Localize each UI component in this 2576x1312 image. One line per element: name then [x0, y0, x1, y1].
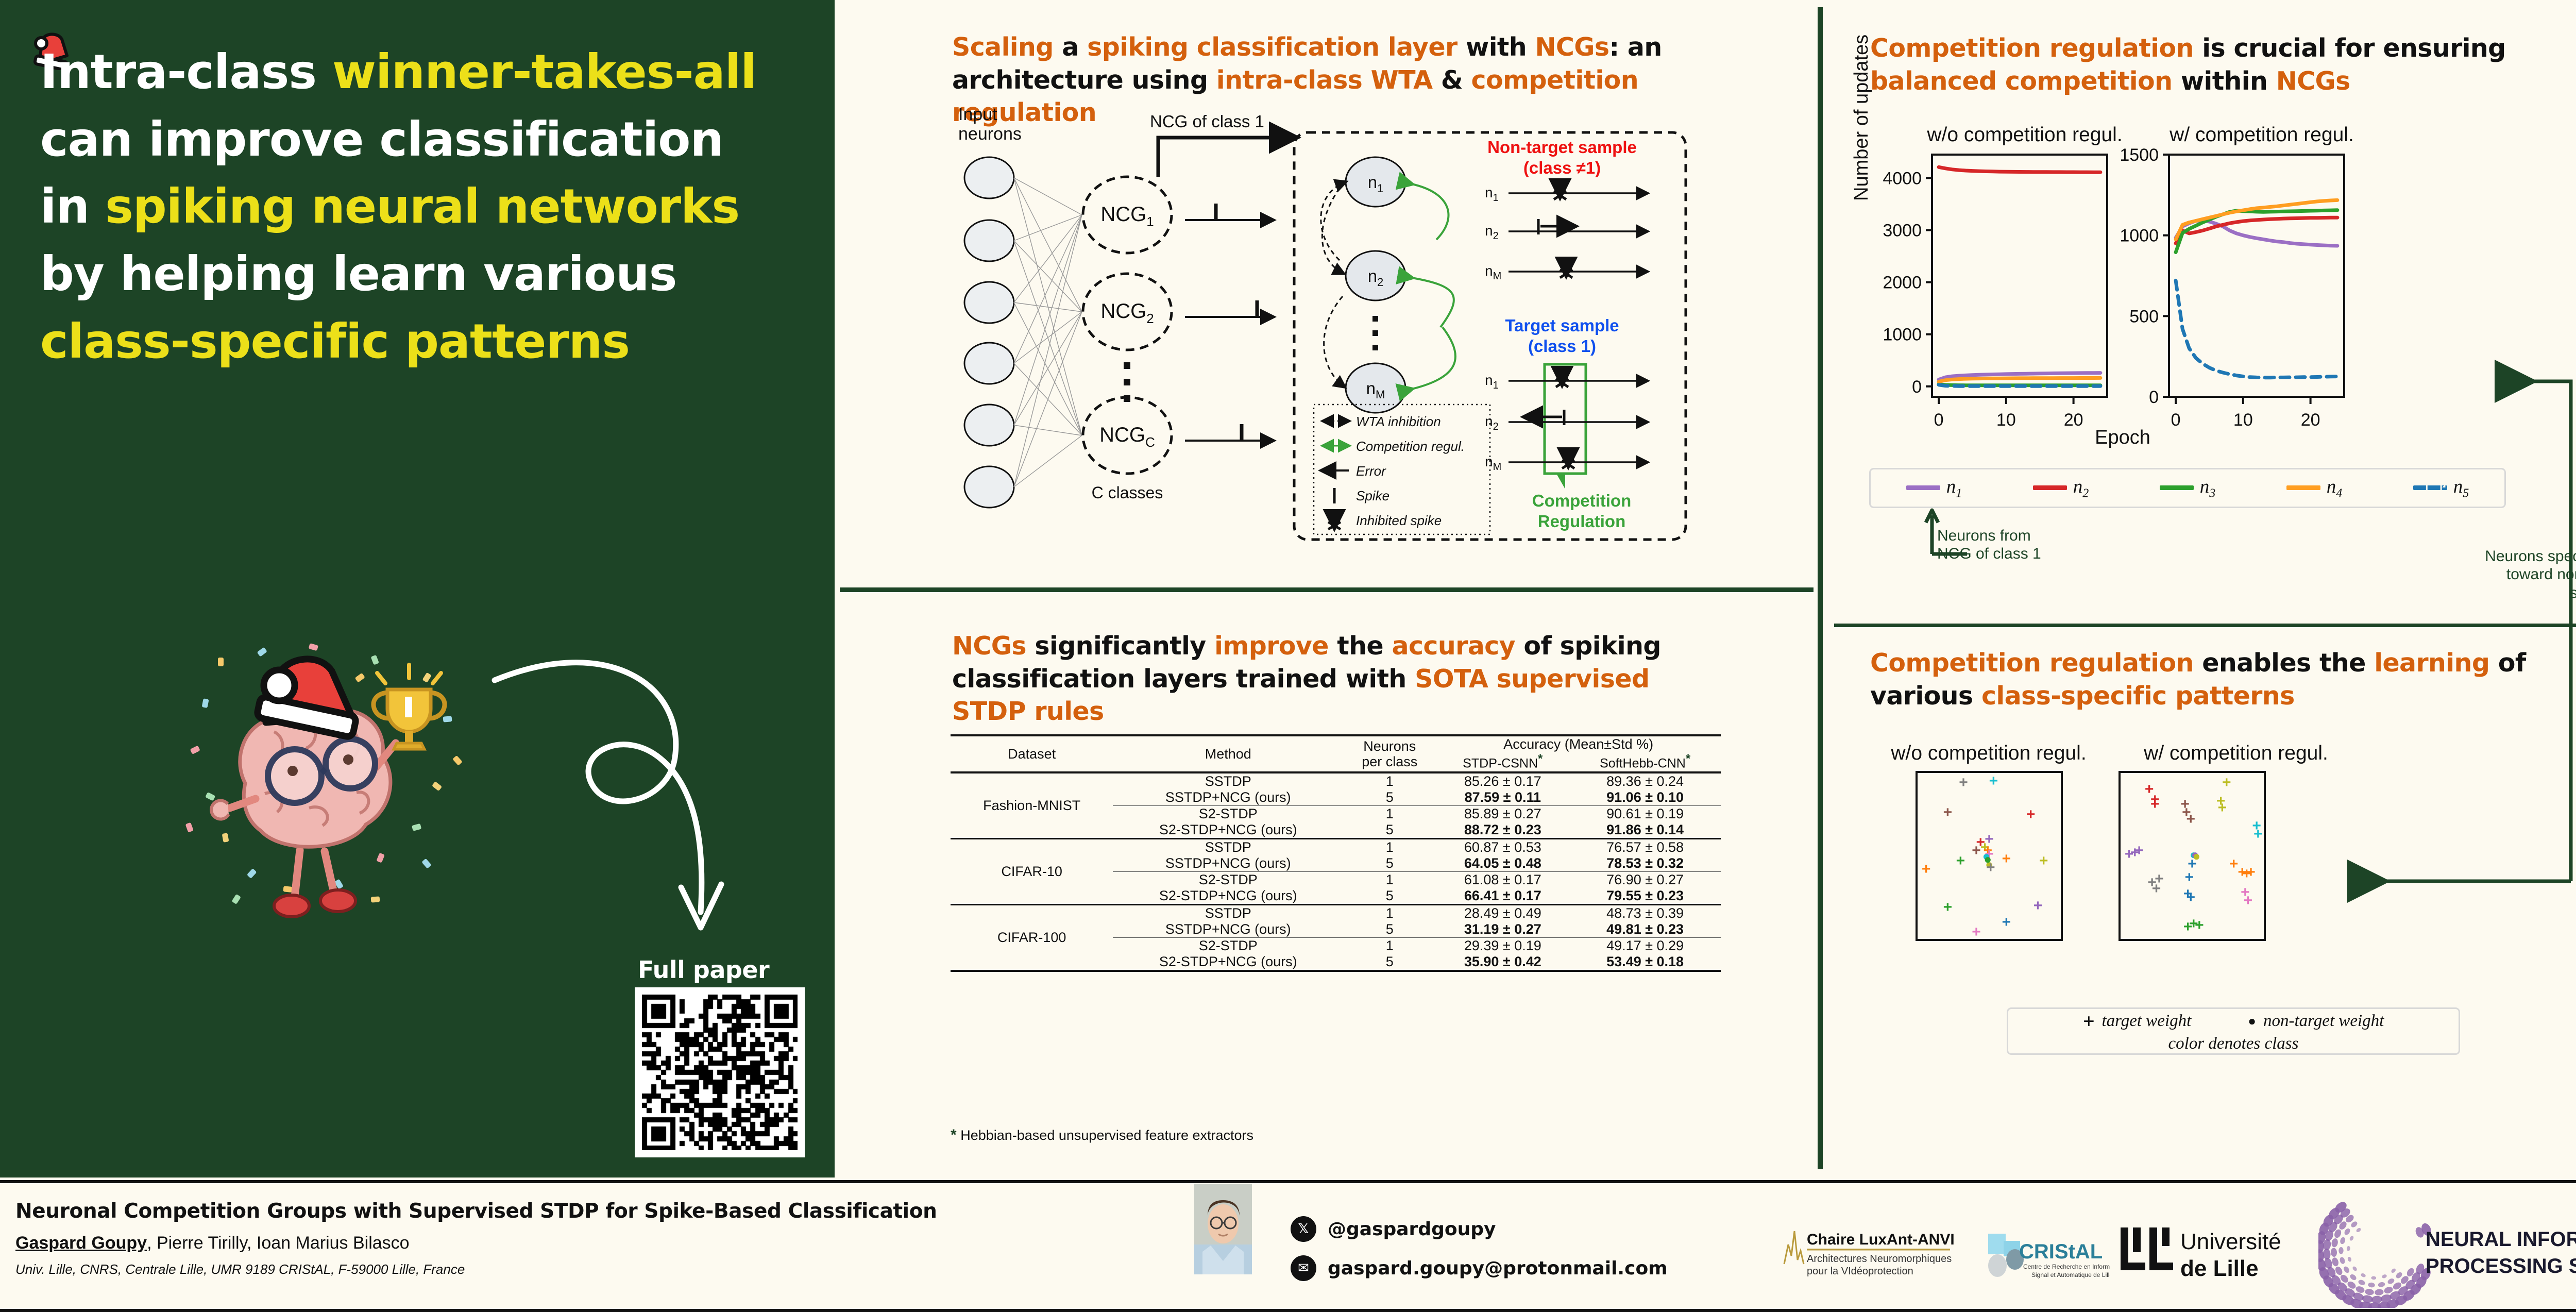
- confetti-piece: [443, 716, 452, 722]
- architecture-diagram: Input neurons NCG1 NCG2 NCGC C classes N…: [927, 106, 1690, 569]
- paper-title: Neuronal Competition Groups with Supervi…: [15, 1200, 937, 1223]
- logo-universite-de-lille: Université de Lille: [2117, 1220, 2298, 1289]
- c-classes-label: C classes: [1092, 483, 1163, 502]
- confetti-piece: [371, 896, 380, 902]
- svg-text:n1: n1: [1485, 184, 1499, 204]
- table-cell-softhebb-cnn: 53.49 ± 0.18: [1569, 954, 1721, 971]
- neurips-dot: [2355, 1285, 2366, 1294]
- logo-cristal: CRIStAL Centre de Recherche en Informati…: [1986, 1222, 2110, 1285]
- table-cell-method: S2-STDP: [1113, 871, 1343, 888]
- nontarget-sample-label-1: Non-target sample: [1487, 138, 1637, 157]
- chaire-sub1: Architectures Neuromorphiques: [1807, 1253, 1952, 1265]
- target-weight-marker: +: [1959, 775, 1968, 790]
- table-cell-neurons: 1: [1343, 904, 1436, 921]
- confetti-piece: [412, 823, 421, 831]
- udl-line1: Université: [2180, 1229, 2281, 1254]
- neurips-dot: [2331, 1248, 2337, 1257]
- neurips-dot: [2331, 1257, 2340, 1267]
- table-cell-softhebb-cnn: 76.90 ± 0.27: [1569, 871, 1721, 888]
- confetti-piece: [185, 822, 194, 833]
- synapse-lines: [1014, 178, 1082, 487]
- y-tick: 0: [1912, 377, 1922, 397]
- table-cell-neurons: 5: [1343, 855, 1436, 872]
- headline-line: can improve classification: [40, 106, 813, 174]
- neurips-dot: [2349, 1273, 2357, 1282]
- headline-line: Intra-class winner-takes-all: [40, 39, 813, 106]
- chaire-sub2: pour la VIdéoprotection: [1807, 1266, 1913, 1277]
- legend-swatch: [1906, 485, 1940, 490]
- neurips-dot: [2338, 1247, 2343, 1254]
- table-cell-method: SSTDP+NCG (ours): [1113, 789, 1343, 806]
- competition-regulation-label-2: Regulation: [1538, 512, 1626, 531]
- table-cell-softhebb-cnn: 76.57 ± 0.58: [1569, 838, 1721, 855]
- target-weight-marker: +: [2134, 843, 2144, 859]
- accuracy-table-container: Dataset Method Neurons per class Accurac…: [951, 734, 1721, 972]
- vertical-divider: [1818, 7, 1823, 1169]
- table-cell-method: SSTDP+NCG (ours): [1113, 921, 1343, 938]
- left-hero-panel: Intra-class winner-takes-allcan improve …: [0, 0, 835, 1178]
- scatter-right-title: w/ competition regul.: [2128, 742, 2344, 765]
- legend-item-n5: n5: [2413, 476, 2469, 500]
- table-cell-softhebb-cnn: 48.73 ± 0.39: [1569, 904, 1721, 921]
- confetti-piece: [205, 792, 215, 801]
- table-row: CIFAR-10SSTDP160.87 ± 0.5376.57 ± 0.58: [951, 838, 1721, 855]
- table-cell-stdp-csnn: 85.89 ± 0.27: [1436, 805, 1569, 822]
- y-tick: 500: [2129, 307, 2159, 326]
- confetti-piece: [202, 698, 209, 708]
- udl-line2: de Lille: [2180, 1256, 2259, 1281]
- table-section-title: NCGs significantly improve the accuracy …: [952, 630, 1715, 728]
- confetti-piece: [218, 658, 224, 666]
- table-cell-stdp-csnn: 61.08 ± 0.17: [1436, 871, 1569, 888]
- confetti-piece: [421, 859, 431, 869]
- target-weight-marker: +: [1943, 805, 1953, 820]
- nontarget-sample-label-2: (class ≠1): [1523, 158, 1601, 177]
- table-cell-stdp-csnn: 28.49 ± 0.49: [1436, 904, 1569, 921]
- annotation-specializing: Neurons specializing toward non-target s…: [2478, 547, 2576, 602]
- table-cell-neurons: 1: [1343, 772, 1436, 789]
- legend-swatch: [2033, 485, 2067, 490]
- table-cell-stdp-csnn: 60.87 ± 0.53: [1436, 838, 1569, 855]
- curved-arrow-icon: [479, 618, 768, 969]
- neurips-dot: [2368, 1282, 2376, 1288]
- table-cell-method: S2-STDP+NCG (ours): [1113, 822, 1343, 839]
- table-cell-softhebb-cnn: 49.81 ± 0.23: [1569, 921, 1721, 938]
- neurips-dot: [2378, 1282, 2385, 1288]
- updates-charts: Number of updates w/o competition regul.…: [1855, 124, 2576, 453]
- th-accuracy: Accuracy (Mean±Std %): [1436, 735, 1721, 752]
- confetti-piece: [371, 655, 379, 665]
- neurips-dot: [2387, 1277, 2395, 1285]
- target-weight-marker: +: [1922, 862, 1931, 877]
- table-row: CIFAR-100SSTDP128.49 ± 0.4948.73 ± 0.39: [951, 904, 1721, 921]
- chart-frame-1: [2169, 155, 2344, 397]
- scatter-legend: + target weight ● non-target weight colo…: [2007, 1007, 2460, 1055]
- neurips-dot: [2334, 1266, 2344, 1276]
- confetti-piece: [222, 833, 229, 843]
- table-cell-method: S2-STDP+NCG (ours): [1113, 954, 1343, 971]
- table-cell-neurons: 5: [1343, 822, 1436, 839]
- th-stdp-csnn: STDP-CSNN*: [1436, 752, 1569, 771]
- neurips-line2: PROCESSING SYSTEMS: [2426, 1255, 2576, 1277]
- confetti-piece: [422, 672, 432, 683]
- th-softhebb-cnn: SoftHebb-CNN*: [1569, 752, 1721, 771]
- neurips-line1: NEURAL INFORMATION: [2426, 1228, 2576, 1251]
- neurips-dot: [2365, 1288, 2375, 1296]
- competition-regulation-label-1: Competition: [1532, 491, 1631, 510]
- legend-wta-inhibition: WTA inhibition: [1356, 414, 1441, 429]
- table-cell-stdp-csnn: 88.72 ± 0.23: [1436, 822, 1569, 839]
- input-neuron-circles: [964, 157, 1014, 508]
- legend-nontarget-weight: ● non-target weight: [2248, 1012, 2384, 1031]
- target-weight-marker: +: [2155, 871, 2164, 887]
- th-method: Method: [1113, 735, 1343, 771]
- confetti-piece: [247, 868, 257, 879]
- table-cell-method: SSTDP: [1113, 904, 1343, 921]
- legend-label: n5: [2453, 476, 2469, 500]
- table-cell-stdp-csnn: 35.90 ± 0.42: [1436, 954, 1569, 971]
- table-cell-method: S2-STDP: [1113, 805, 1343, 822]
- table-cell-method: S2-STDP: [1113, 937, 1343, 954]
- horizontal-divider-middle: [840, 587, 1814, 592]
- chart-legend: n1n2n3n4n5: [1869, 468, 2506, 508]
- qr-code-canvas: [642, 995, 798, 1150]
- target-weight-marker: +: [2002, 915, 2011, 930]
- chart-xlabel: Epoch: [1855, 427, 2391, 449]
- table-cell-stdp-csnn: 66.41 ± 0.17: [1436, 888, 1569, 905]
- neurips-dot: [2350, 1220, 2358, 1229]
- scatter-left-title: w/o competition regul.: [1880, 742, 2097, 765]
- target-weight-marker: +: [2246, 865, 2256, 880]
- y-tick: 1500: [2120, 145, 2159, 165]
- confetti-piece: [355, 673, 365, 683]
- svg-text:n2: n2: [1485, 413, 1499, 432]
- target-weight-marker: +: [2253, 827, 2263, 842]
- horizontal-divider-right: [1834, 624, 2576, 627]
- author-list: Gaspard Goupy, Pierre Tirilly, Ioan Mari…: [15, 1233, 410, 1253]
- target-weight-marker: +: [1943, 900, 1953, 915]
- confetti-piece: [452, 755, 463, 766]
- envelope-icon: ✉: [1291, 1255, 1316, 1281]
- svg-text:nM: nM: [1485, 263, 1501, 282]
- target-weight-marker: +: [2002, 851, 2011, 867]
- plus-marker-icon: +: [2083, 1009, 2095, 1033]
- target-weight-marker: +: [2244, 893, 2253, 909]
- table-cell-stdp-csnn: 29.39 ± 0.19: [1436, 937, 1569, 954]
- neurips-dot: [2391, 1268, 2397, 1274]
- neurips-dot: [2358, 1279, 2366, 1286]
- target-weight-marker: +: [2185, 870, 2194, 885]
- legend-item-n2: n2: [2033, 476, 2089, 500]
- series-n2: [1939, 167, 2100, 172]
- table-cell-softhebb-cnn: 91.86 ± 0.14: [1569, 822, 1721, 839]
- table-cell-neurons: 5: [1343, 789, 1436, 806]
- neurips-dot: [2375, 1289, 2384, 1296]
- neurips-dot: [2339, 1256, 2346, 1265]
- y-tick: 1000: [2120, 226, 2159, 246]
- table-cell-neurons: 1: [1343, 805, 1436, 822]
- table-cell-method: S2-STDP+NCG (ours): [1113, 888, 1343, 905]
- neurips-dot: [2343, 1227, 2351, 1236]
- table-cell-softhebb-cnn: 49.17 ± 0.29: [1569, 937, 1721, 954]
- table-cell-neurons: 1: [1343, 937, 1436, 954]
- neurips-dot: [2331, 1238, 2338, 1248]
- target-weight-marker: +: [2039, 853, 2048, 869]
- table-cell-softhebb-cnn: 89.36 ± 0.24: [1569, 772, 1721, 789]
- email-address: gaspard.goupy@protonmail.com: [1328, 1258, 1668, 1279]
- target-weight-marker: +: [2033, 898, 2043, 914]
- series-n5: [2176, 280, 2337, 377]
- neurips-dot: [2352, 1266, 2358, 1272]
- confetti-piece: [432, 781, 442, 791]
- table-cell-stdp-csnn: 64.05 ± 0.48: [1436, 855, 1569, 872]
- scatter-plot-without-regulation: ++++++++++●●●+++++++++: [1916, 771, 2063, 941]
- confetti-piece: [283, 886, 292, 893]
- table-cell-method: SSTDP+NCG (ours): [1113, 855, 1343, 872]
- qr-code[interactable]: [635, 987, 805, 1157]
- full-paper-label: Full paper: [638, 956, 769, 984]
- confetti-piece: [257, 647, 267, 657]
- ncg-class1-label: NCG of class 1: [1150, 112, 1264, 131]
- dot-marker-icon: ●: [2248, 1014, 2256, 1029]
- y-tick: 0: [2149, 388, 2159, 407]
- table-row: Fashion-MNISTSSTDP185.26 ± 0.1789.36 ± 0…: [951, 772, 1721, 789]
- legend-competition-regul: Competition regul.: [1356, 439, 1465, 454]
- neurips-dot: [2360, 1272, 2366, 1277]
- y-tick: 2000: [1883, 273, 1922, 293]
- y-tick: 1000: [1883, 325, 1922, 345]
- annotation-neurons-from: Neurons from NCG of class 1: [1937, 527, 2041, 563]
- headline-line: class-specific patterns: [40, 308, 813, 376]
- table-cell-dataset: CIFAR-10: [951, 838, 1113, 904]
- accuracy-table: Dataset Method Neurons per class Accurac…: [951, 734, 1721, 972]
- headline-line: in spiking neural networks: [40, 173, 813, 241]
- legend-swatch: [2160, 485, 2194, 490]
- svg-text:n1: n1: [1485, 372, 1499, 391]
- table-cell-stdp-csnn: 87.59 ± 0.11: [1436, 789, 1569, 806]
- legend-label: n4: [2327, 476, 2343, 500]
- svg-text:n2: n2: [1485, 223, 1499, 242]
- table-body: Fashion-MNISTSSTDP185.26 ± 0.1789.36 ± 0…: [951, 772, 1721, 972]
- table-cell-softhebb-cnn: 78.53 ± 0.32: [1569, 855, 1721, 872]
- neurips-dot: [2349, 1235, 2354, 1241]
- email-row[interactable]: ✉ gaspard.goupy@protonmail.com: [1291, 1255, 1668, 1281]
- cristal-sub2: Signal et Automatique de Lille: [2031, 1271, 2110, 1279]
- x-twitter-icon: 𝕏: [1291, 1216, 1316, 1242]
- twitter-handle-row[interactable]: 𝕏 @gaspardgoupy: [1291, 1216, 1496, 1242]
- legend-swatch: [2286, 485, 2320, 490]
- target-sample-label-1: Target sample: [1505, 316, 1619, 335]
- table-cell-softhebb-cnn: 91.06 ± 0.10: [1569, 789, 1721, 806]
- legend-color-note: color denotes class: [2168, 1034, 2299, 1053]
- table-cell-softhebb-cnn: 79.55 ± 0.23: [1569, 888, 1721, 905]
- series-n4: [1939, 378, 2100, 381]
- target-sample-label-2: (class 1): [1528, 337, 1596, 356]
- table-cell-stdp-csnn: 85.26 ± 0.17: [1436, 772, 1569, 789]
- legend-swatch: [2413, 485, 2447, 490]
- headline-line: by helping learn various: [40, 241, 813, 308]
- legend-target-weight: + target weight: [2083, 1009, 2192, 1033]
- th-neurons: Neurons per class: [1343, 735, 1436, 771]
- first-author: Gaspard Goupy: [15, 1233, 147, 1253]
- target-weight-marker: +: [2195, 918, 2204, 933]
- confetti-piece: [231, 894, 241, 904]
- chart-frame-0: [1932, 155, 2107, 397]
- cristal-sub1: Centre de Recherche en Informatique,: [2023, 1263, 2110, 1270]
- neurips-dot: [2355, 1227, 2362, 1233]
- y-tick: 4000: [1883, 169, 1922, 188]
- legend-label: n2: [2073, 476, 2089, 500]
- table-cell-neurons: 5: [1343, 888, 1436, 905]
- target-weight-marker: +: [2229, 856, 2239, 872]
- svg-text:NCG1: NCG1: [1100, 203, 1154, 229]
- table-cell-stdp-csnn: 31.19 ± 0.27: [1436, 921, 1569, 938]
- neurips-dot: [2346, 1246, 2350, 1251]
- target-weight-marker: +: [1972, 924, 1981, 940]
- svg-text:NCG2: NCG2: [1100, 300, 1154, 326]
- target-weight-marker: +: [2150, 797, 2160, 812]
- table-bottom-rule: [951, 971, 1721, 972]
- table-head: Dataset Method Neurons per class Accurac…: [951, 735, 1721, 772]
- input-neurons-label-1: Input: [958, 106, 997, 124]
- author-photo: [1194, 1184, 1252, 1274]
- confetti-piece: [376, 853, 385, 863]
- learning-section-title: Competition regulation enables the learn…: [1870, 647, 2576, 712]
- page-headline: Intra-class winner-takes-allcan improve …: [40, 39, 813, 375]
- y-tick: 3000: [1883, 221, 1922, 241]
- table-footnote: * Hebbian-based unsupervised feature ext…: [951, 1126, 1253, 1144]
- neurips-dot: [2395, 1271, 2403, 1280]
- th-dataset: Dataset: [951, 735, 1113, 771]
- competition-section-title: Competition regulation is crucial for en…: [1870, 32, 2576, 97]
- confetti-piece: [190, 746, 200, 754]
- svg-text:nM: nM: [1485, 453, 1501, 473]
- legend-error: Error: [1356, 463, 1386, 479]
- affiliation: Univ. Lille, CNRS, Centrale Lille, UMR 9…: [15, 1261, 465, 1277]
- twitter-handle: @gaspardgoupy: [1328, 1219, 1496, 1240]
- input-neurons-label-2: neurons: [958, 124, 1022, 144]
- confetti-piece: [309, 643, 318, 651]
- table-cell-dataset: CIFAR-100: [951, 904, 1113, 971]
- target-weight-marker: +: [2026, 807, 2036, 822]
- neurips-dot: [2340, 1237, 2346, 1245]
- target-weight-marker: +: [1989, 773, 1998, 789]
- table-cell-neurons: 1: [1343, 838, 1436, 855]
- scatter-plot-with-regulation: ++++++++++++++●●●++++++++++++++++: [2119, 771, 2266, 941]
- legend-label: n3: [2200, 476, 2216, 500]
- vertical-dots: [1124, 362, 1130, 402]
- svg-text:NCGC: NCGC: [1099, 424, 1155, 450]
- table-cell-dataset: Fashion-MNIST: [951, 772, 1113, 839]
- legend-item-n3: n3: [2160, 476, 2216, 500]
- table-cell-neurons: 5: [1343, 921, 1436, 938]
- legend-spike: Spike: [1356, 488, 1389, 503]
- table-cell-neurons: 5: [1343, 954, 1436, 971]
- table-cell-neurons: 1: [1343, 871, 1436, 888]
- brain-mascot-illustration: [155, 629, 495, 958]
- legend-item-n4: n4: [2286, 476, 2343, 500]
- logo-chaire-luxant-anvi: Chaire LuxAnt-ANVI Architectures Neuromo…: [1780, 1224, 1960, 1283]
- neurips-dot: [2371, 1276, 2376, 1280]
- neurips-dot: [2343, 1266, 2350, 1274]
- target-weight-marker: +: [1956, 853, 1965, 869]
- target-weight-marker: +: [2218, 800, 2227, 816]
- target-weight-marker: +: [2186, 890, 2195, 905]
- legend-inhibited-spike: Inhibited spike: [1356, 513, 1442, 528]
- charts-svg: 010002000300040000102005001000150001020: [1855, 124, 2576, 453]
- legend-label: n1: [1946, 476, 1962, 500]
- table-cell-method: SSTDP: [1113, 838, 1343, 855]
- target-weight-marker: +: [1986, 860, 1995, 876]
- target-weight-marker: +: [1972, 843, 1981, 859]
- legend-item-n1: n1: [1906, 476, 1962, 500]
- target-weight-marker: +: [2222, 775, 2231, 790]
- cristal-name: CRIStAL: [2019, 1240, 2103, 1263]
- logo-neurips: NEURAL INFORMATION PROCESSING SYSTEMS: [2318, 1195, 2576, 1310]
- target-weight-marker: +: [2186, 812, 2195, 827]
- neurips-dot: [2381, 1274, 2387, 1279]
- chaire-title: Chaire LuxAnt-ANVI: [1807, 1231, 1955, 1248]
- neurips-dot: [2347, 1256, 2352, 1262]
- table-cell-softhebb-cnn: 90.61 ± 0.19: [1569, 805, 1721, 822]
- table-cell-method: SSTDP: [1113, 772, 1343, 789]
